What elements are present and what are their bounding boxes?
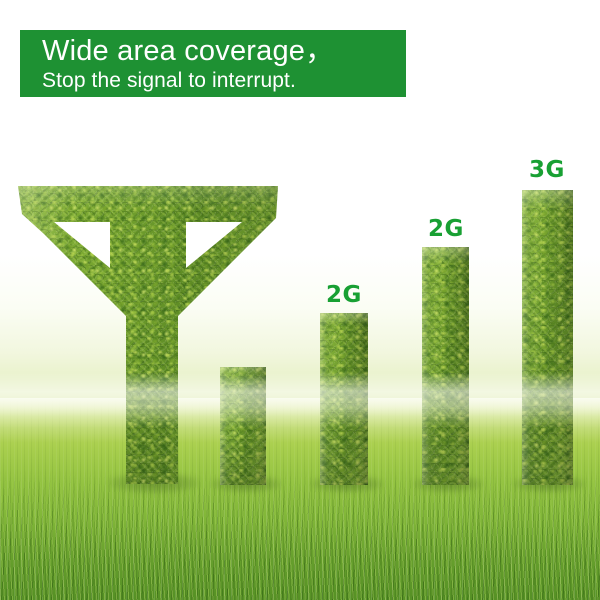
bar-3-hedge-texture xyxy=(422,247,469,485)
bar-3 xyxy=(422,247,469,485)
bar-4 xyxy=(522,190,573,485)
banner-headline: Wide area coverage， xyxy=(42,34,406,68)
banner-subhead: Stop the signal to interrupt. xyxy=(42,68,406,93)
bar-4-label: 3G xyxy=(520,159,574,182)
bar-4-hedge-texture xyxy=(522,190,573,485)
bar-2-label: 2G xyxy=(318,284,370,307)
headline-banner: Wide area coverage， Stop the signal to i… xyxy=(20,30,406,97)
poster-canvas: 2G 2G 3G Wide area coverage， Stop the si… xyxy=(0,0,600,600)
antenna-signal-tower-logo xyxy=(14,184,282,486)
bar-3-label: 2G xyxy=(420,218,472,241)
logo-hedge-texture xyxy=(14,184,282,486)
bar-2 xyxy=(320,313,368,485)
bar-2-hedge-texture xyxy=(320,313,368,485)
